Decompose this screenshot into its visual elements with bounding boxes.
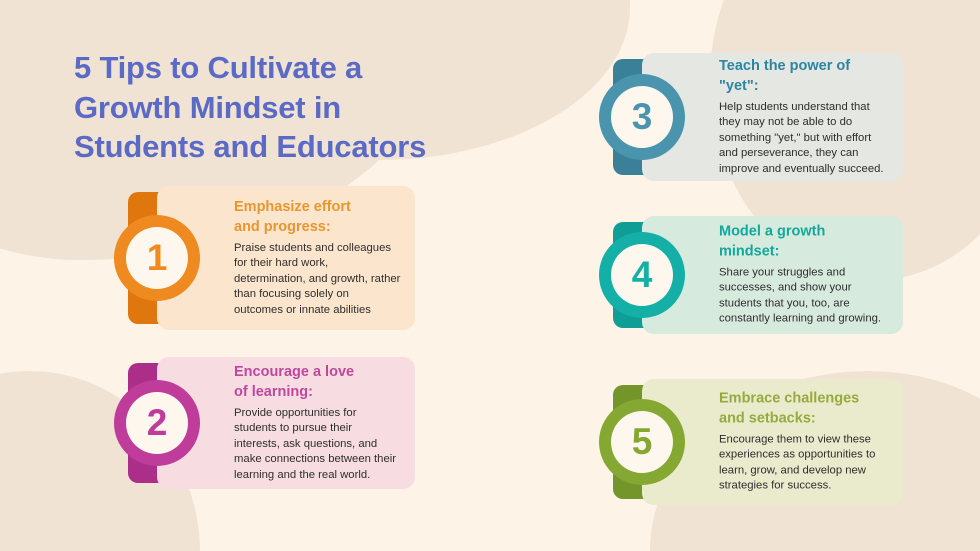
tip-card-1-content: Emphasize effort and progress: Praise st… <box>234 198 401 318</box>
tip-card-3-heading: Teach the power of "yet": <box>719 57 889 96</box>
infographic-slide: 5 Tips to Cultivate a Growth Mindset in … <box>0 0 980 551</box>
tip-card-2-body: 2 Encourage a love of learning: Provide … <box>157 357 415 489</box>
tip-card-1-body: 1 Emphasize effort and progress: Praise … <box>157 186 415 330</box>
tip-card-4-heading: Model a growth mindset: <box>719 223 889 262</box>
tip-card-3-number-badge: 3 <box>599 74 685 160</box>
tip-card-1-number-badge: 1 <box>114 215 200 301</box>
tip-card-5-heading: Embrace challenges and setbacks: <box>719 390 889 429</box>
tip-card-3-body: 3 Teach the power of "yet": Help student… <box>642 53 903 181</box>
tip-card-3-text: Help students understand that they may n… <box>719 100 889 177</box>
tip-card-5-number-badge: 5 <box>599 399 685 485</box>
tip-card-2-number-badge: 2 <box>114 380 200 466</box>
tip-card-4-number-badge: 4 <box>599 232 685 318</box>
tip-card-1: 1 Emphasize effort and progress: Praise … <box>128 186 415 330</box>
tip-card-3: 3 Teach the power of "yet": Help student… <box>613 53 903 181</box>
tip-card-4: 4 Model a growth mindset: Share your str… <box>613 216 903 334</box>
tip-card-5-number: 5 <box>611 411 673 473</box>
tip-card-4-content: Model a growth mindset: Share your strug… <box>719 223 889 328</box>
tip-card-2-heading: Encourage a love of learning: <box>234 363 401 402</box>
tip-card-3-content: Teach the power of "yet": Help students … <box>719 57 889 177</box>
tip-card-4-body: 4 Model a growth mindset: Share your str… <box>642 216 903 334</box>
tip-card-2-number: 2 <box>126 392 188 454</box>
tip-card-1-heading: Emphasize effort and progress: <box>234 198 401 237</box>
tip-card-2-content: Encourage a love of learning: Provide op… <box>234 363 401 483</box>
page-title: 5 Tips to Cultivate a Growth Mindset in … <box>74 48 494 167</box>
tip-card-4-number: 4 <box>611 244 673 306</box>
tip-card-5: 5 Embrace challenges and setbacks: Encou… <box>613 379 903 505</box>
tip-card-5-content: Embrace challenges and setbacks: Encoura… <box>719 390 889 495</box>
tip-card-1-text: Praise students and colleagues for their… <box>234 241 401 318</box>
tip-card-2: 2 Encourage a love of learning: Provide … <box>128 357 415 489</box>
tip-card-4-text: Share your struggles and successes, and … <box>719 266 889 327</box>
tip-card-5-body: 5 Embrace challenges and setbacks: Encou… <box>642 379 903 505</box>
tip-card-5-text: Encourage them to view these experiences… <box>719 433 889 494</box>
tip-card-1-number: 1 <box>126 227 188 289</box>
tip-card-2-text: Provide opportunities for students to pu… <box>234 406 401 483</box>
tip-card-3-number: 3 <box>611 86 673 148</box>
